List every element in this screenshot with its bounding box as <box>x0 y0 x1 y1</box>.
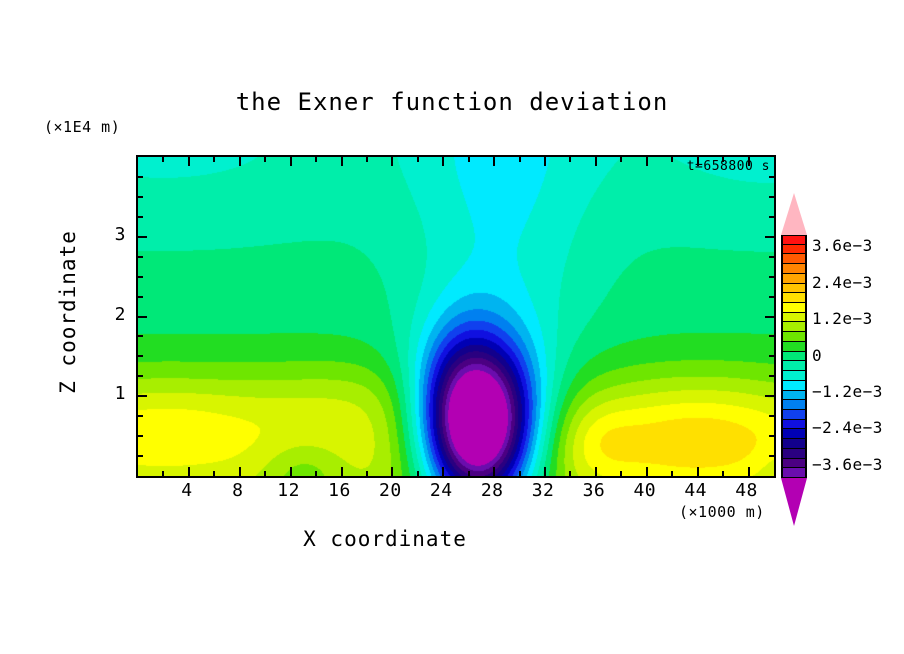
y-major-tick-right <box>765 236 774 238</box>
y-tick-label: 3 <box>86 224 126 245</box>
colorbar-band <box>781 439 807 449</box>
x-minor-tick-top <box>519 157 521 162</box>
colorbar-band <box>781 264 807 274</box>
y-minor-tick-right <box>769 415 774 417</box>
y-minor-tick <box>138 335 143 337</box>
x-major-tick-top <box>341 157 343 166</box>
x-minor-tick <box>162 471 164 476</box>
x-major-tick <box>442 467 444 476</box>
y-minor-tick <box>138 355 143 357</box>
y-minor-tick-right <box>769 435 774 437</box>
x-major-tick <box>290 467 292 476</box>
colorbar-tick-label: −2.4e−3 <box>812 418 883 437</box>
colorbar-band <box>781 274 807 284</box>
x-major-tick-top <box>239 157 241 166</box>
y-minor-tick-right <box>769 335 774 337</box>
colorbar-band <box>781 410 807 420</box>
x-axis-unit-label: (×1000 m) <box>679 503 765 521</box>
contour-plot-area: t=658800 s <box>136 155 776 478</box>
colorbar-band <box>781 400 807 410</box>
colorbar-band <box>781 284 807 294</box>
y-minor-tick <box>138 276 143 278</box>
colorbar-band <box>781 420 807 430</box>
x-minor-tick-top <box>264 157 266 162</box>
colorbar <box>781 235 807 478</box>
y-axis-unit-label: (×1E4 m) <box>44 118 120 136</box>
x-major-tick-top <box>646 157 648 166</box>
y-minor-tick-right <box>769 296 774 298</box>
x-major-tick <box>748 467 750 476</box>
x-minor-tick <box>722 471 724 476</box>
x-minor-tick <box>620 471 622 476</box>
y-minor-tick-right <box>769 276 774 278</box>
x-major-tick-top <box>595 157 597 166</box>
colorbar-band <box>781 429 807 439</box>
y-minor-tick <box>138 196 143 198</box>
y-minor-tick-right <box>769 355 774 357</box>
x-major-tick <box>544 467 546 476</box>
y-tick-label: 2 <box>86 304 126 325</box>
x-minor-tick-top <box>366 157 368 162</box>
x-minor-tick-top <box>213 157 215 162</box>
x-major-tick-top <box>493 157 495 166</box>
colorbar-band <box>781 245 807 255</box>
x-minor-tick-top <box>468 157 470 162</box>
contour-field <box>138 157 774 476</box>
colorbar-band <box>781 322 807 332</box>
colorbar-tick-label: −1.2e−3 <box>812 382 883 401</box>
x-minor-tick-top <box>417 157 419 162</box>
x-minor-tick <box>569 471 571 476</box>
colorbar-tick-label: 3.6e−3 <box>812 236 873 255</box>
y-major-tick <box>138 395 147 397</box>
x-minor-tick-top <box>620 157 622 162</box>
y-major-tick <box>138 236 147 238</box>
y-major-tick-right <box>765 316 774 318</box>
colorbar-over-arrow <box>781 193 807 235</box>
colorbar-band <box>781 293 807 303</box>
colorbar-band <box>781 449 807 459</box>
x-major-tick <box>697 467 699 476</box>
y-tick-label: 1 <box>86 383 126 404</box>
x-major-tick-top <box>290 157 292 166</box>
x-major-tick <box>188 467 190 476</box>
x-tick-label: 48 <box>717 480 777 501</box>
colorbar-band <box>781 468 807 478</box>
colorbar-band <box>781 303 807 313</box>
y-minor-tick <box>138 415 143 417</box>
x-minor-tick <box>519 471 521 476</box>
x-axis-label: X coordinate <box>0 527 770 551</box>
x-major-tick-top <box>442 157 444 166</box>
colorbar-band <box>781 371 807 381</box>
timestamp-label: t=658800 s <box>687 159 770 174</box>
y-minor-tick <box>138 375 143 377</box>
x-major-tick <box>646 467 648 476</box>
x-minor-tick <box>468 471 470 476</box>
x-major-tick <box>239 467 241 476</box>
x-minor-tick-top <box>315 157 317 162</box>
y-minor-tick <box>138 435 143 437</box>
colorbar-band <box>781 361 807 371</box>
y-minor-tick <box>138 216 143 218</box>
page-title: the Exner function deviation <box>0 88 904 116</box>
colorbar-band <box>781 459 807 469</box>
y-minor-tick-right <box>769 216 774 218</box>
colorbar-tick-label: 2.4e−3 <box>812 273 873 292</box>
y-minor-tick-right <box>769 176 774 178</box>
x-minor-tick <box>264 471 266 476</box>
y-major-tick <box>138 316 147 318</box>
x-major-tick <box>493 467 495 476</box>
x-minor-tick <box>417 471 419 476</box>
colorbar-tick-label: 1.2e−3 <box>812 309 873 328</box>
y-minor-tick <box>138 455 143 457</box>
x-minor-tick-top <box>162 157 164 162</box>
y-axis-label: Z coordinate <box>56 222 80 402</box>
y-minor-tick-right <box>769 196 774 198</box>
colorbar-band <box>781 235 807 245</box>
x-major-tick-top <box>544 157 546 166</box>
colorbar-band <box>781 342 807 352</box>
colorbar-band <box>781 313 807 323</box>
y-minor-tick <box>138 296 143 298</box>
colorbar-tick-label: 0 <box>812 346 822 365</box>
y-minor-tick-right <box>769 256 774 258</box>
colorbar-band <box>781 332 807 342</box>
x-major-tick-top <box>391 157 393 166</box>
figure-canvas: the Exner function deviation (×1E4 m) (×… <box>0 0 904 654</box>
colorbar-band <box>781 391 807 401</box>
x-major-tick <box>341 467 343 476</box>
y-minor-tick <box>138 176 143 178</box>
colorbar-band <box>781 352 807 362</box>
colorbar-under-arrow <box>781 478 807 526</box>
x-minor-tick <box>671 471 673 476</box>
y-major-tick-right <box>765 395 774 397</box>
y-minor-tick <box>138 256 143 258</box>
x-major-tick <box>391 467 393 476</box>
x-minor-tick-top <box>671 157 673 162</box>
x-minor-tick-top <box>569 157 571 162</box>
y-minor-tick-right <box>769 455 774 457</box>
colorbar-tick-label: −3.6e−3 <box>812 455 883 474</box>
colorbar-band <box>781 254 807 264</box>
y-minor-tick-right <box>769 375 774 377</box>
x-major-tick <box>595 467 597 476</box>
x-minor-tick <box>366 471 368 476</box>
x-major-tick-top <box>188 157 190 166</box>
x-minor-tick <box>315 471 317 476</box>
colorbar-band <box>781 381 807 391</box>
x-minor-tick <box>213 471 215 476</box>
